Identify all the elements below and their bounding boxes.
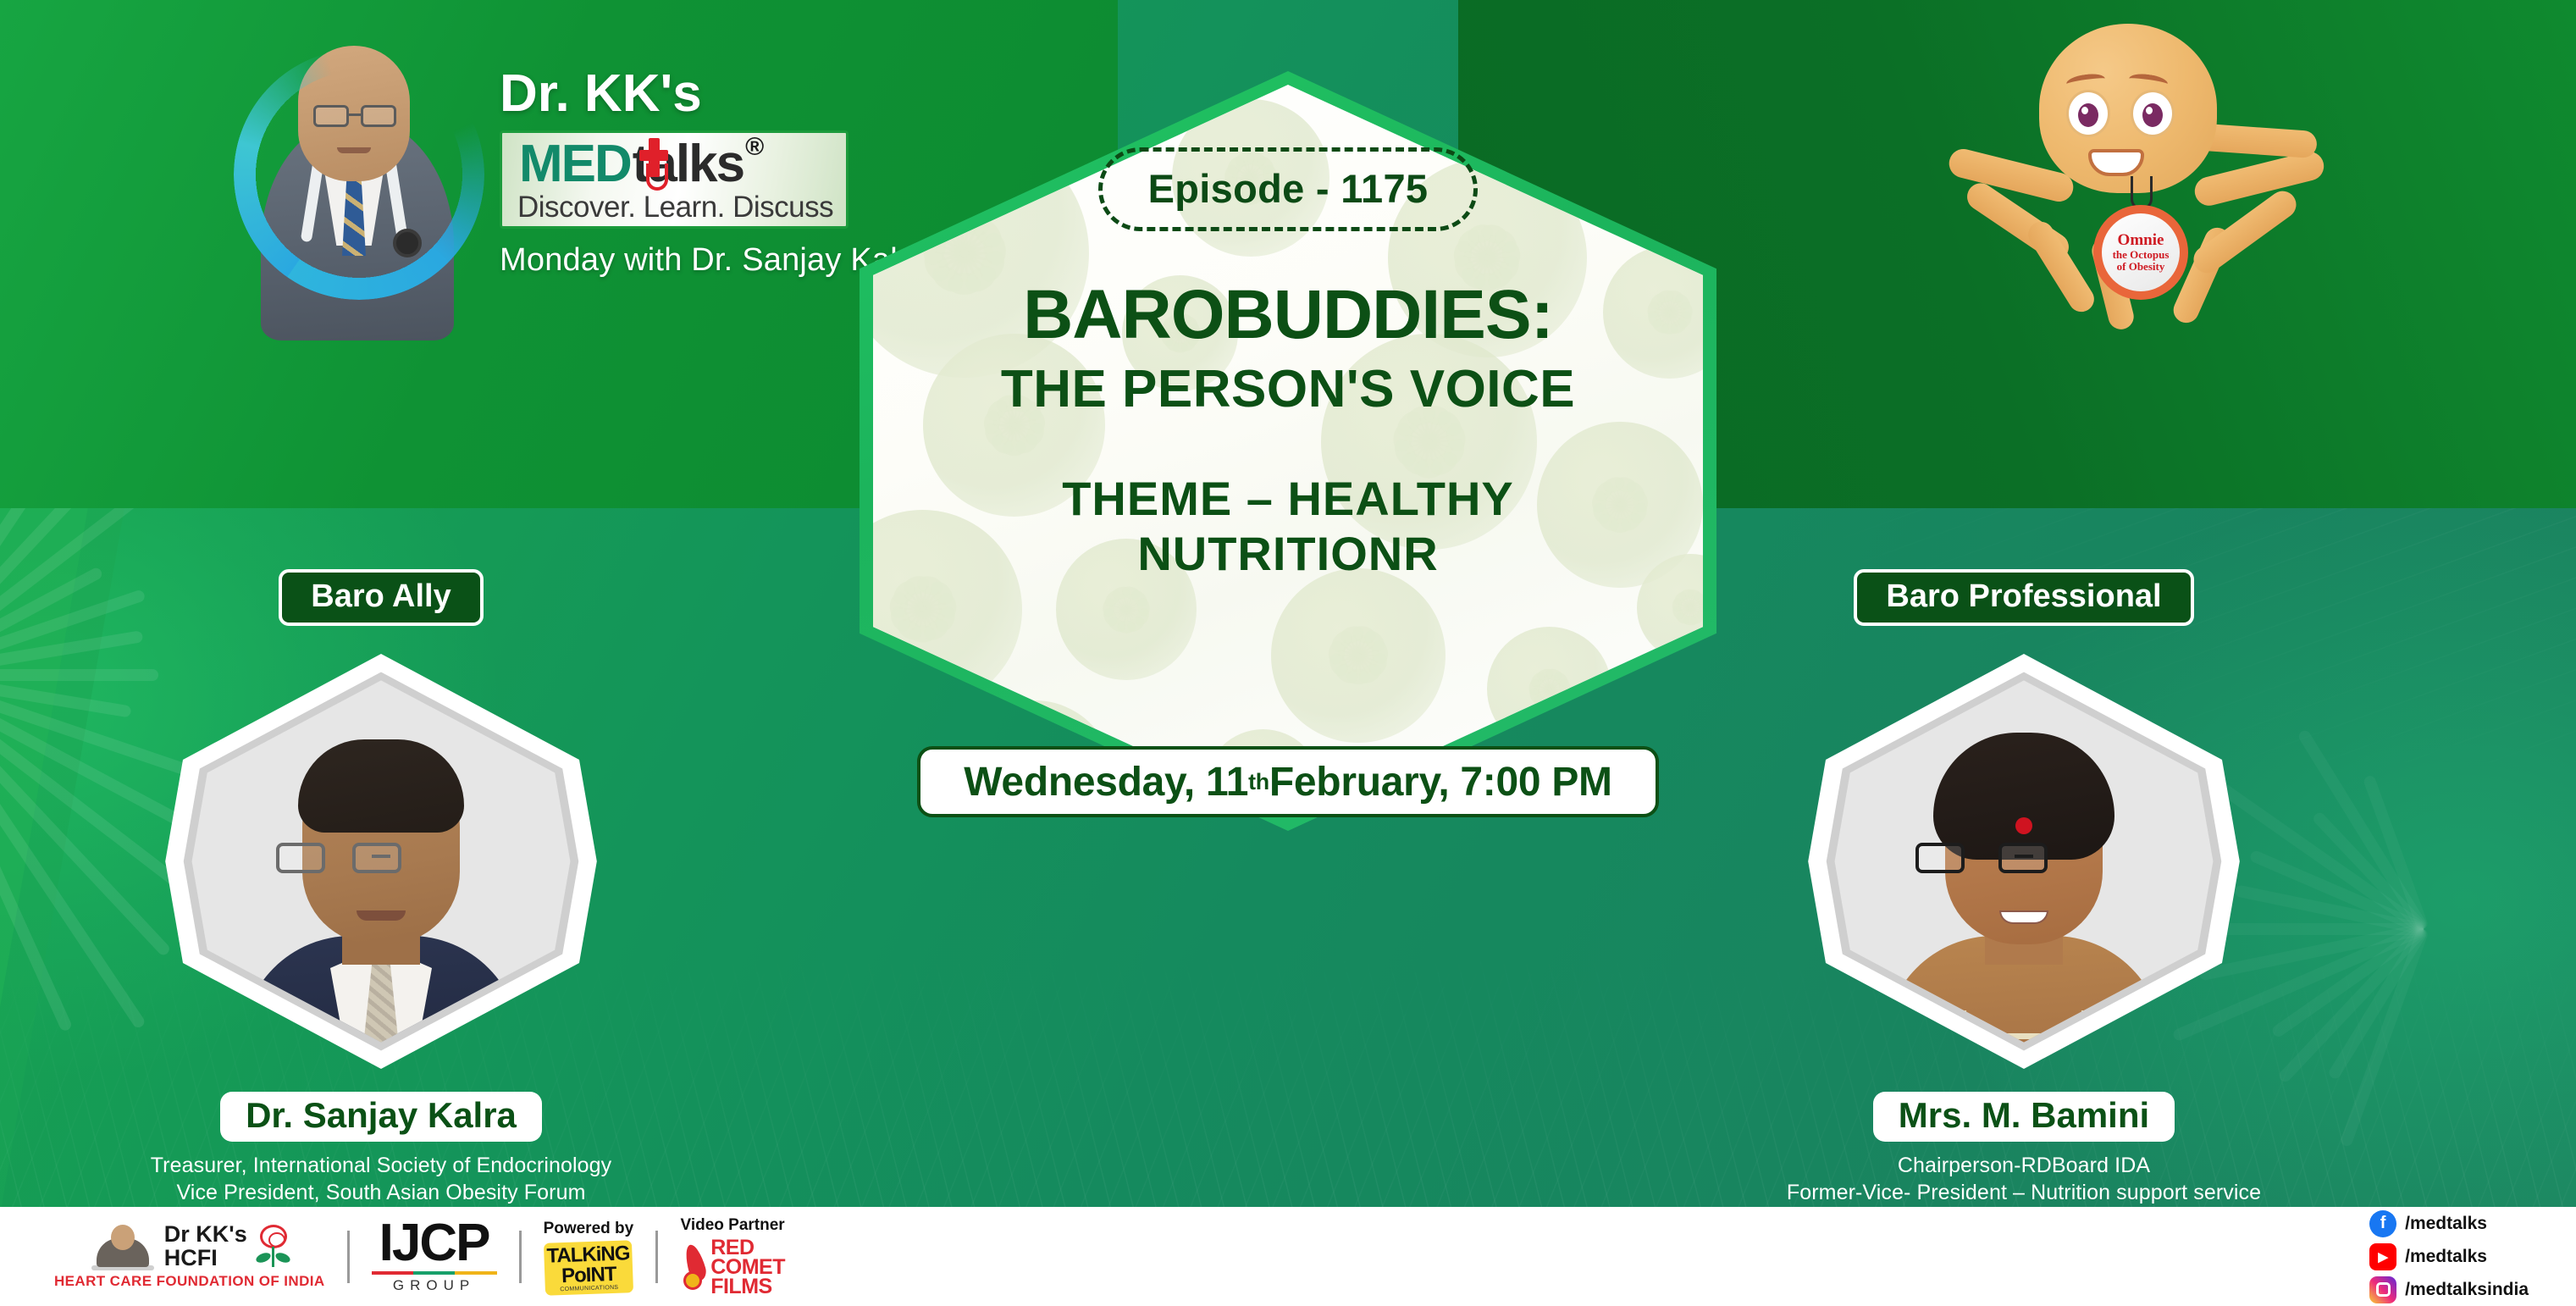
social-links: f /medtalks ▶ /medtalks /medtalksindia [2369, 1210, 2529, 1303]
youtube-icon[interactable]: ▶ [2369, 1243, 2396, 1270]
rose-icon [254, 1225, 293, 1269]
ijcp-color-bar [372, 1271, 497, 1275]
video-partner-block: Video Partner RED COMET FILMS [680, 1216, 785, 1297]
stethoscope-icon [646, 163, 668, 191]
mascot-subtitle-1: the Octopus [2113, 249, 2170, 261]
hcfi-logo: Dr KK's HCFI HEART CARE FOUNDATION OF IN… [54, 1223, 325, 1290]
hcfi-line-2: HCFI [164, 1247, 247, 1270]
hcfi-line-1: Dr KK's [164, 1223, 247, 1247]
facebook-handle[interactable]: /medtalks [2405, 1214, 2487, 1234]
omnie-octopus-mascot: Omnie the Octopus of Obesity [1939, 8, 2337, 364]
registered-trademark-icon: ® [745, 133, 764, 162]
hcfi-portrait-icon [86, 1223, 159, 1270]
red-comet-films-logo: RED COMET FILMS [680, 1238, 785, 1297]
credential-line: Chairperson-RDBoard IDA [1774, 1152, 2274, 1179]
event-date-prefix: Wednesday, 11 [964, 759, 1248, 805]
brand-tagline: Discover. Learn. Discuss [517, 192, 833, 222]
comet-flame-icon [680, 1244, 714, 1292]
speaker-name-right: Mrs. M. Bamini [1873, 1092, 2175, 1142]
talking-point-line-2: PoINT [561, 1264, 616, 1286]
speaker-card-right: Baro Professional Mrs. M. Bamini Chairpe… [1702, 569, 2346, 1233]
red-comet-line-3: FILMS [710, 1277, 785, 1297]
social-row-youtube[interactable]: ▶ /medtalks [2369, 1243, 2529, 1270]
credential-line: Vice President, South Asian Obesity Foru… [151, 1179, 612, 1206]
speaker-name-left: Dr. Sanjay Kalra [220, 1092, 542, 1142]
ijcp-logo: IJCP GROUP [372, 1219, 497, 1294]
event-date-suffix: February, 7:00 PM [1269, 759, 1612, 805]
ijcp-wordmark: IJCP [379, 1219, 489, 1269]
bindi-icon [2015, 817, 2032, 834]
speaker-photo-left [161, 650, 601, 1073]
youtube-handle[interactable]: /medtalks [2405, 1247, 2487, 1267]
speaker-photo-right [1804, 650, 2244, 1073]
credential-line: Treasurer, International Society of Endo… [151, 1152, 612, 1179]
logo-med-text: MED [519, 138, 631, 191]
social-row-instagram[interactable]: /medtalksindia [2369, 1276, 2529, 1303]
event-subtitle: THE PERSON'S VOICE [1001, 363, 1575, 416]
event-title: BAROBUDDIES: [1023, 280, 1553, 350]
poster-canvas: Dr. KK's MED talks ® Discover. Learn. Di… [0, 0, 2576, 1306]
footer-divider [519, 1231, 522, 1283]
mascot-name: Omnie [2118, 232, 2164, 249]
speaker-role-badge-right: Baro Professional [1854, 569, 2193, 626]
event-datetime-banner: Wednesday, 11th February, 7:00 PM [917, 746, 1659, 817]
portrait-ring-decoration [234, 49, 484, 300]
instagram-icon[interactable] [2369, 1276, 2396, 1303]
credential-line: Former-Vice- President – Nutrition suppo… [1774, 1179, 2274, 1206]
talking-point-line-1: TALKiNG [546, 1242, 630, 1265]
social-row-facebook[interactable]: f /medtalks [2369, 1210, 2529, 1237]
hcfi-subtitle: HEART CARE FOUNDATION OF INDIA [54, 1273, 325, 1290]
event-theme: THEME – HEALTHY NUTRITIONR [1017, 472, 1559, 582]
powered-by-block: Powered by TALKiNG PoINT COMMUNICATIONS [544, 1220, 634, 1294]
central-hexagon-panel: Episode - 1175 BAROBUDDIES: THE PERSON'S… [873, 85, 1703, 817]
speaker-card-left: Baro Ally Dr. Sanjay Kalra Treasurer, In… [59, 569, 703, 1233]
medtalks-logo: MED talks ® Discover. Learn. Discuss [500, 130, 849, 229]
mascot-subtitle-2: of Obesity [2117, 261, 2165, 273]
footer-divider [347, 1231, 350, 1283]
talking-point-logo: TALKiNG PoINT COMMUNICATIONS [544, 1240, 633, 1296]
facebook-icon[interactable]: f [2369, 1210, 2396, 1237]
event-date-ordinal: th [1248, 769, 1269, 795]
video-partner-caption: Video Partner [681, 1216, 785, 1235]
mascot-name-badge: Omnie the Octopus of Obesity [2093, 205, 2188, 300]
footer-bar: Dr KK's HCFI HEART CARE FOUNDATION OF IN… [0, 1207, 2576, 1306]
speaker-role-badge-left: Baro Ally [279, 569, 483, 626]
episode-badge: Episode - 1175 [1098, 147, 1479, 231]
footer-divider [655, 1231, 658, 1283]
ijcp-subtitle: GROUP [393, 1277, 475, 1294]
powered-by-caption: Powered by [544, 1220, 634, 1238]
instagram-handle[interactable]: /medtalksindia [2405, 1280, 2529, 1300]
